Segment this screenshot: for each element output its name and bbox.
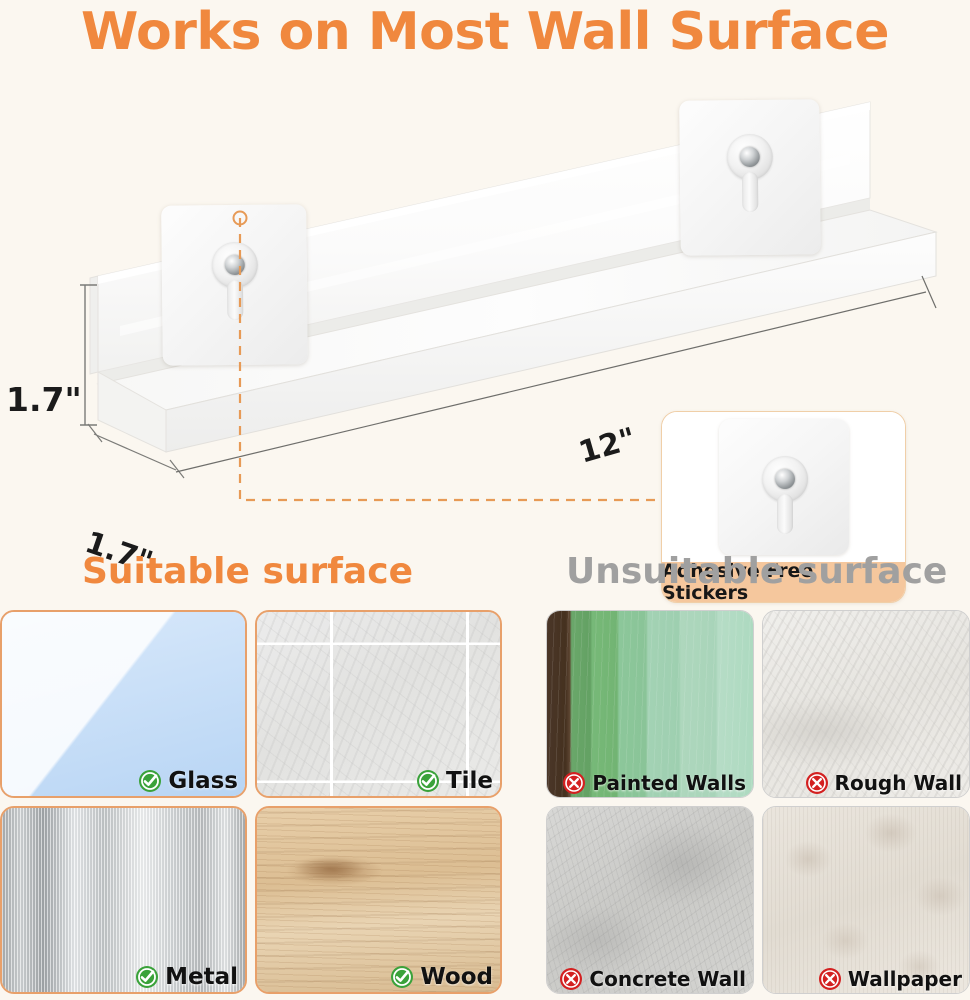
- check-circle-icon: [135, 965, 159, 989]
- unsuitable-heading: Unsuitable surface: [566, 551, 947, 592]
- surface-tag: Wood: [390, 964, 493, 990]
- surface-texture: [547, 807, 753, 993]
- adhesive-sticker-right: [679, 99, 821, 255]
- hook-icon: [211, 242, 258, 322]
- surface-label: Concrete Wall: [589, 967, 746, 991]
- unsuitable-surface-grid: Painted Walls Rough Wall: [546, 610, 970, 1000]
- hook-icon: [727, 134, 774, 214]
- product-hero: 1.7" 1.7" 12" Adhesive Free Stickers: [0, 70, 970, 540]
- surface-card-glass[interactable]: Glass: [0, 610, 247, 798]
- surface-card-painted-walls[interactable]: Painted Walls: [546, 610, 754, 798]
- surface-card-wallpaper[interactable]: Wallpaper: [762, 806, 970, 994]
- cross-circle-icon: [805, 771, 829, 795]
- sticker-photo: [662, 412, 905, 564]
- surface-card-wood[interactable]: Wood: [255, 806, 502, 994]
- surface-tag: Tile: [416, 768, 493, 794]
- hook-screw: [740, 147, 760, 167]
- hook-peg: [742, 172, 758, 212]
- hook-screw: [224, 255, 244, 275]
- surface-label: Metal: [165, 964, 238, 990]
- surface-texture: [763, 611, 969, 797]
- check-circle-icon: [416, 769, 440, 793]
- dimension-height-label: 1.7": [6, 380, 82, 419]
- surface-label: Tile: [446, 768, 493, 794]
- suitable-surface-grid: Glass Tile Metal: [0, 610, 500, 1000]
- surface-label: Wood: [420, 964, 493, 990]
- product-infographic: Works on Most Wall Surface: [0, 0, 970, 1000]
- surface-card-concrete-wall[interactable]: Concrete Wall: [546, 806, 754, 994]
- hook-screw: [775, 469, 795, 489]
- cross-circle-icon: [562, 771, 586, 795]
- surface-label: Wallpaper: [848, 967, 962, 991]
- surface-texture: [763, 807, 969, 993]
- surface-tag: Rough Wall: [805, 771, 962, 795]
- hook-peg: [777, 494, 793, 534]
- surface-tag: Concrete Wall: [559, 967, 746, 991]
- hook-peg: [226, 280, 242, 320]
- surface-card-rough-wall[interactable]: Rough Wall: [762, 610, 970, 798]
- surface-tag: Metal: [135, 964, 238, 990]
- surface-card-metal[interactable]: Metal: [0, 806, 247, 994]
- hook-icon: [762, 456, 806, 536]
- suitable-heading: Suitable surface: [82, 551, 413, 592]
- surface-tag: Glass: [138, 768, 238, 794]
- surface-label: Glass: [168, 768, 238, 794]
- check-circle-icon: [138, 769, 162, 793]
- surface-label: Rough Wall: [835, 771, 962, 795]
- surface-texture: [547, 611, 753, 797]
- cross-circle-icon: [818, 967, 842, 991]
- surface-card-tile[interactable]: Tile: [255, 610, 502, 798]
- page-title: Works on Most Wall Surface: [0, 2, 970, 62]
- check-circle-icon: [390, 965, 414, 989]
- surface-label: Painted Walls: [592, 771, 746, 795]
- adhesive-sticker-left: [161, 204, 308, 366]
- surface-tag: Painted Walls: [562, 771, 746, 795]
- cross-circle-icon: [559, 967, 583, 991]
- surface-tag: Wallpaper: [818, 967, 962, 991]
